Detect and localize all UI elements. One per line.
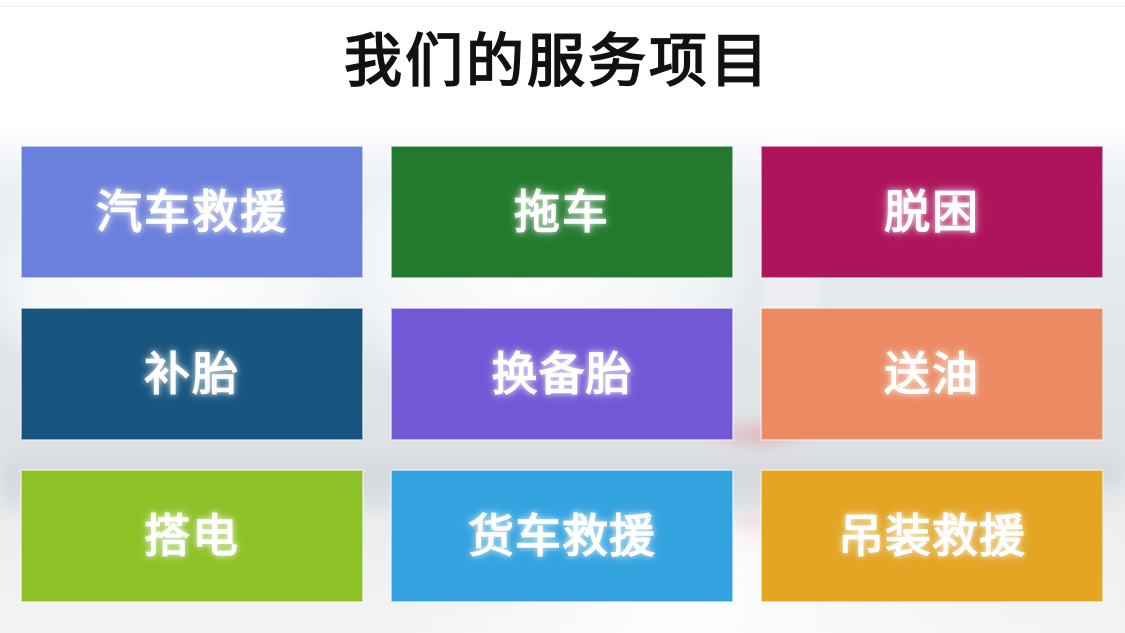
- service-tile-spare-tire-change[interactable]: 换备胎: [391, 308, 733, 440]
- header-divider: [0, 6, 1125, 7]
- service-tile-label: 脱困: [884, 189, 980, 235]
- service-tile-label: 搭电: [144, 513, 240, 559]
- service-tile-label: 补胎: [144, 351, 240, 397]
- service-tile-extrication[interactable]: 脱困: [761, 146, 1103, 278]
- service-tile-label: 拖车: [514, 189, 610, 235]
- service-tile-fuel-delivery[interactable]: 送油: [761, 308, 1103, 440]
- service-tile-label: 换备胎: [492, 351, 633, 397]
- header-band: 我们的服务项目: [0, 0, 1125, 128]
- page-title: 我们的服务项目: [0, 24, 1115, 100]
- service-tile-label: 汽车救援: [96, 189, 288, 235]
- service-poster: 我们的服务项目 汽车救援 拖车 脱困 补胎 换备胎 送油 搭电 货车救援 吊装救…: [0, 0, 1125, 633]
- service-tile-truck-assistance[interactable]: 货车救援: [391, 470, 733, 602]
- service-tile-jump-start[interactable]: 搭电: [21, 470, 363, 602]
- service-tile-tire-repair[interactable]: 补胎: [21, 308, 363, 440]
- service-tile-grid: 汽车救援 拖车 脱困 补胎 换备胎 送油 搭电 货车救援 吊装救援: [21, 146, 1103, 602]
- service-tile-label: 货车救援: [468, 513, 656, 559]
- service-tile-towing[interactable]: 拖车: [391, 146, 733, 278]
- service-tile-label: 吊装救援: [838, 513, 1026, 559]
- service-tile-crane-lift-rescue[interactable]: 吊装救援: [761, 470, 1103, 602]
- service-tile-label: 送油: [884, 351, 980, 397]
- service-tile-roadside-assistance[interactable]: 汽车救援: [21, 146, 363, 278]
